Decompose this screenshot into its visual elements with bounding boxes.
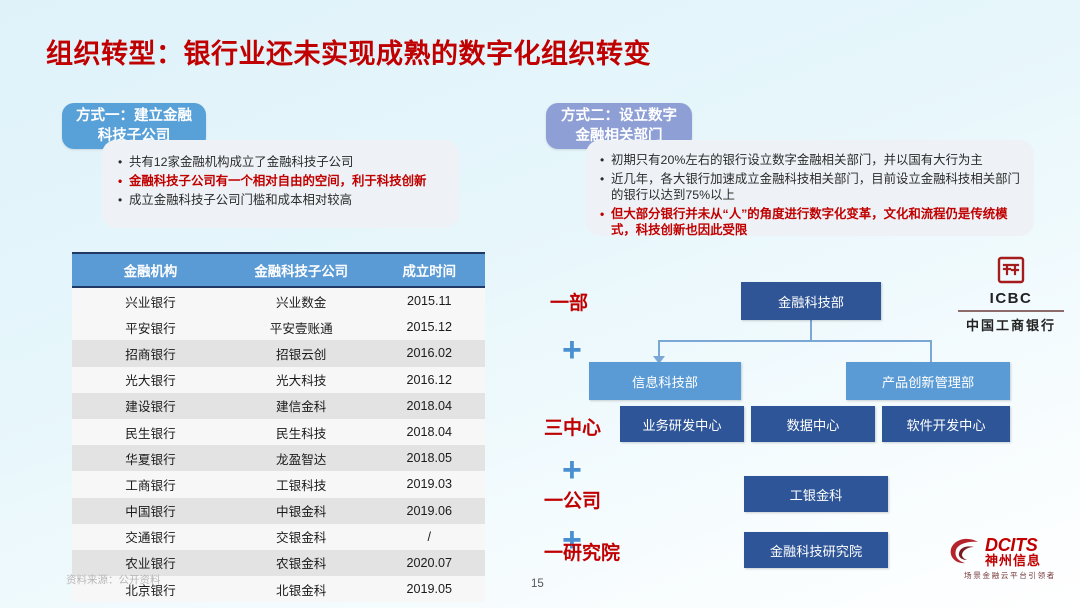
org-row-label-centers: 三中心 [544,413,601,440]
org-box-business-rd-center: 业务研发中心 [620,406,744,442]
plus-icon: + [562,453,582,487]
method-one-bullet-box: • 共有12家金融机构成立了金融科技子公司 • 金融科技子公司有一个相对自由的空… [102,140,459,228]
dcits-logo-tagline: 场景金融云平台引领者 [948,570,1072,581]
cell-institution: 工商银行 [72,471,229,497]
org-box-icbc-fintech-company: 工银金科 [744,476,888,512]
cell-subsidiary: 北银金科 [229,576,374,602]
bullet-dot-icon: • [118,173,129,189]
list-item: • 共有12家金融机构成立了金融科技子公司 [118,154,447,170]
cell-subsidiary: 招银云创 [229,340,374,366]
dcits-logo-words: DCITS 神州信息 [985,536,1041,568]
method-one-pill-line1: 方式一：建立金融 [76,106,192,126]
fintech-subsidiary-table: 金融机构 金融科技子公司 成立时间 兴业银行兴业数金2015.11 平安银行平安… [72,252,485,602]
cell-founded: 2015.12 [373,314,485,340]
cell-institution: 平安银行 [72,314,229,340]
bullet-dot-icon: • [118,192,129,208]
dcits-logo-en: DCITS [985,536,1041,554]
cell-subsidiary: 建信金科 [229,393,374,419]
bullet-text-prefix: 但 [611,207,623,221]
cell-founded: 2015.11 [373,287,485,314]
cell-institution: 兴业银行 [72,287,229,314]
cell-subsidiary: 交银金科 [229,524,374,550]
bullet-text: 金融科技子公司有一个相对自由的空间，利于科技创新 [129,173,447,189]
cell-subsidiary: 工银科技 [229,471,374,497]
slide-root: 组织转型：银行业还未实现成熟的数字化组织转变 方式一：建立金融 科技子公司 • … [0,0,1080,608]
icbc-mark-icon [996,256,1026,284]
bullet-text: 但大部分银行并未从“人”的角度进行数字化变革，文化和流程仍是传统模式，科技创新也… [611,206,1024,238]
method-two-bullet-list: • 初期只有20%左右的银行设立数字金融相关部门，并以国有大行为主 • 近几年，… [586,140,1034,238]
cell-founded: / [373,524,485,550]
cell-founded: 2019.06 [373,498,485,524]
table-row: 交通银行交银金科/ [72,524,485,550]
icbc-logo: ICBC 中国工商银行 [952,256,1070,334]
list-item: • 初期只有20%左右的银行设立数字金融相关部门，并以国有大行为主 [600,152,1024,168]
org-row-label-company: 一公司 [544,486,601,513]
org-box-fintech-research-institute: 金融科技研究院 [744,532,888,568]
cell-founded: 2019.05 [373,576,485,602]
cell-institution: 华夏银行 [72,445,229,471]
column-header-founded: 成立时间 [373,253,485,287]
list-item: • 成立金融科技子公司门槛和成本相对较高 [118,192,447,208]
org-row-label-institute: 一研究院 [544,538,620,565]
method-two-bullet-box: • 初期只有20%左右的银行设立数字金融相关部门，并以国有大行为主 • 近几年，… [586,140,1034,236]
table-row: 兴业银行兴业数金2015.11 [72,287,485,314]
cell-subsidiary: 光大科技 [229,367,374,393]
list-item: • 金融科技子公司有一个相对自由的空间，利于科技创新 [118,173,447,189]
cell-institution: 中国银行 [72,498,229,524]
cell-institution: 民生银行 [72,419,229,445]
column-header-subsidiary: 金融科技子公司 [229,253,374,287]
icbc-logo-en: ICBC [952,290,1070,307]
org-box-it-department: 信息科技部 [589,362,741,400]
cell-founded: 2019.03 [373,471,485,497]
bullet-dot-icon: • [600,152,611,168]
table-row: 民生银行民生科技2018.04 [72,419,485,445]
table-header-row: 金融机构 金融科技子公司 成立时间 [72,253,485,287]
table-row: 光大银行光大科技2016.12 [72,367,485,393]
org-box-data-center: 数据中心 [751,406,875,442]
cell-institution: 招商银行 [72,340,229,366]
cell-founded: 2020.07 [373,550,485,576]
org-row-label-department: 一部 [550,288,588,315]
connector-vertical-right [930,340,932,362]
dcits-logo: DCITS 神州信息 场景金融云平台引领者 [948,536,1072,581]
bullet-dot-icon: • [118,154,129,170]
org-box-product-innovation-department: 产品创新管理部 [846,362,1010,400]
org-box-software-dev-center: 软件开发中心 [882,406,1010,442]
dcits-swoosh-icon [948,536,982,568]
table-row: 华夏银行龙盈智达2018.05 [72,445,485,471]
icbc-logo-divider [958,310,1064,312]
table-row: 平安银行平安壹账通2015.12 [72,314,485,340]
org-box-fintech-department: 金融科技部 [741,282,881,320]
bullet-text: 初期只有20%左右的银行设立数字金融相关部门，并以国有大行为主 [611,152,1024,168]
cell-founded: 2018.05 [373,445,485,471]
method-two-pill-line1: 方式二：设立数字 [561,106,677,126]
column-header-institution: 金融机构 [72,253,229,287]
cell-founded: 2018.04 [373,393,485,419]
bullet-text-emphasis: 大部分银行并未从“人”的角度进行数字化变革，文化和流程仍是传统模式，科技创新也因… [611,207,1008,237]
list-item: • 但大部分银行并未从“人”的角度进行数字化变革，文化和流程仍是传统模式，科技创… [600,206,1024,238]
cell-institution: 光大银行 [72,367,229,393]
plus-icon: + [562,333,582,367]
bullet-dot-icon: • [600,171,611,187]
bullet-text: 共有12家金融机构成立了金融科技子公司 [129,154,447,170]
bullet-dot-icon: • [600,206,611,222]
cell-institution: 建设银行 [72,393,229,419]
cell-founded: 2016.12 [373,367,485,393]
page-title: 组织转型：银行业还未实现成熟的数字化组织转变 [46,32,651,71]
bullet-text: 近几年，各大银行加速成立金融科技相关部门，目前设立金融科技相关部门的银行以达到7… [611,171,1024,203]
cell-subsidiary: 民生科技 [229,419,374,445]
source-note: 资料来源：公开资料 [66,572,161,587]
cell-subsidiary: 平安壹账通 [229,314,374,340]
list-item: • 近几年，各大银行加速成立金融科技相关部门，目前设立金融科技相关部门的银行以达… [600,171,1024,203]
cell-founded: 2018.04 [373,419,485,445]
cell-founded: 2016.02 [373,340,485,366]
table-row: 建设银行建信金科2018.04 [72,393,485,419]
page-number: 15 [531,578,544,590]
connector-horizontal [658,340,932,342]
cell-subsidiary: 农银金科 [229,550,374,576]
table-row: 工商银行工银科技2019.03 [72,471,485,497]
table-row: 中国银行中银金科2019.06 [72,498,485,524]
connector-vertical-root [810,320,812,340]
icbc-logo-cn: 中国工商银行 [952,315,1070,334]
cell-subsidiary: 龙盈智达 [229,445,374,471]
dcits-logo-cn: 神州信息 [985,554,1041,568]
method-one-bullet-list: • 共有12家金融机构成立了金融科技子公司 • 金融科技子公司有一个相对自由的空… [102,140,459,208]
cell-institution: 交通银行 [72,524,229,550]
dcits-logo-main: DCITS 神州信息 [948,536,1072,568]
table-row: 招商银行招银云创2016.02 [72,340,485,366]
cell-subsidiary: 中银金科 [229,498,374,524]
cell-subsidiary: 兴业数金 [229,287,374,314]
bullet-text: 成立金融科技子公司门槛和成本相对较高 [129,192,447,208]
